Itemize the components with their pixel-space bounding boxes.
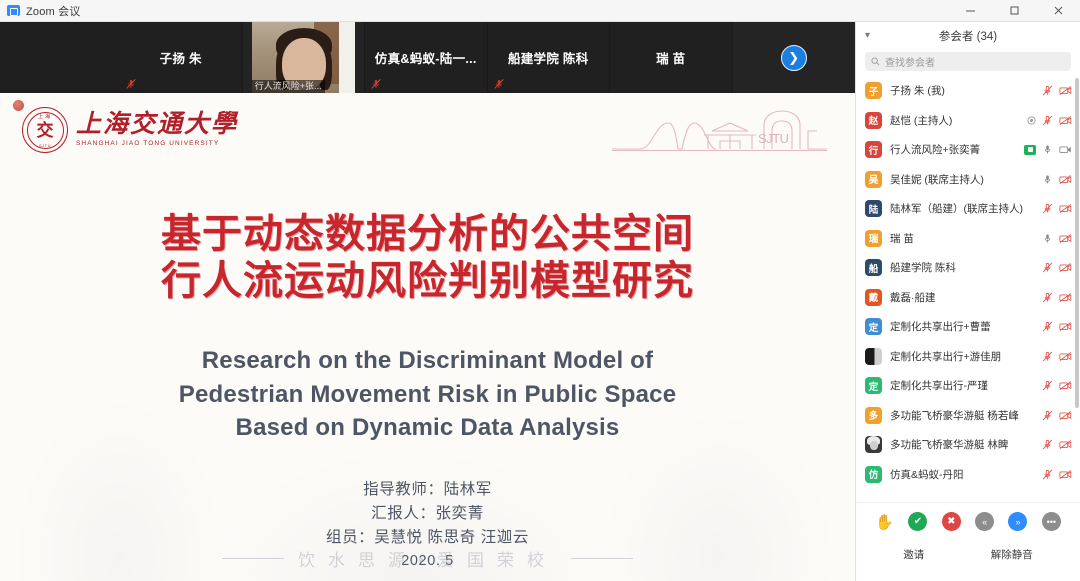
sjtu-name-en: SHANGHAI JIAO TONG UNIVERSITY bbox=[76, 141, 238, 148]
thumbnail-name: 子扬 朱 bbox=[160, 48, 202, 67]
participant-row[interactable]: 船 船建学院 陈科 bbox=[856, 253, 1080, 283]
participant-row[interactable]: 赵 赵恺 (主持人) bbox=[856, 106, 1080, 136]
go-faster-icon[interactable]: » bbox=[1008, 512, 1027, 531]
thumbnail-participant-3[interactable]: 仿真&蚂蚁-陆一... bbox=[365, 22, 488, 93]
minimize-button[interactable] bbox=[948, 0, 992, 22]
camera-muted-icon[interactable] bbox=[1059, 410, 1072, 421]
participants-title: 参会者 (34) bbox=[856, 28, 1080, 44]
sjtu-logo: 上海 交 SJTU 上海交通大學 SHANGHAI JIAO TONG UNIV… bbox=[22, 107, 238, 153]
motto-dash-right bbox=[571, 558, 633, 559]
avatar: 瑞 bbox=[865, 230, 882, 247]
thumbnail-name: 船建学院 陈科 bbox=[508, 48, 589, 67]
motto-dash-left bbox=[222, 558, 284, 559]
avatar: 定 bbox=[865, 377, 882, 394]
window-titlebar: Zoom 会议 bbox=[0, 0, 1080, 22]
camera-muted-icon[interactable] bbox=[1059, 174, 1072, 185]
avatar: 仿 bbox=[865, 466, 882, 483]
seal-center-char: 交 bbox=[37, 122, 54, 139]
mic-muted-icon bbox=[493, 78, 505, 90]
credit-advisor: 指导教师：陆林军 bbox=[0, 478, 855, 502]
sjtu-name-cn: 上海交通大學 bbox=[76, 112, 238, 137]
camera-muted-icon[interactable] bbox=[1059, 203, 1072, 214]
chevron-right-icon: ❯ bbox=[781, 45, 807, 71]
thumbnail-name: 瑞 苗 bbox=[656, 48, 685, 67]
mic-muted-icon[interactable] bbox=[1041, 439, 1054, 450]
participants-header: ▾ 参会者 (34) bbox=[856, 22, 1080, 49]
participant-row[interactable]: 定 定制化共享出行-严瑾 bbox=[856, 371, 1080, 401]
slide-title-cn-line1: 基于动态数据分析的公共空间 bbox=[0, 211, 855, 258]
participant-name: 定制化共享出行-严瑾 bbox=[890, 378, 1033, 393]
slide-title-en: Research on the Discriminant Model of Pe… bbox=[0, 344, 855, 445]
mic-muted-icon[interactable] bbox=[1041, 410, 1054, 421]
avatar: 定 bbox=[865, 318, 882, 335]
zoom-icon bbox=[7, 5, 20, 16]
participant-name: 瑞 苗 bbox=[890, 231, 1033, 246]
participant-status-icons bbox=[1041, 380, 1072, 391]
thumbnail-participant-2-video[interactable]: 行人流风险+张... bbox=[243, 22, 366, 93]
avatar: 陆 bbox=[865, 200, 882, 217]
thumbnail-name: 仿真&蚂蚁-陆一... bbox=[375, 48, 477, 67]
shared-slide: 上海 交 SJTU 上海交通大學 SHANGHAI JIAO TONG UNIV… bbox=[0, 93, 855, 581]
no-icon[interactable]: ✖ bbox=[942, 512, 961, 531]
thumbnail-participant-4[interactable]: 船建学院 陈科 bbox=[488, 22, 611, 93]
participant-row[interactable]: 陆 陆林军（船建）(联席主持人) bbox=[856, 194, 1080, 224]
participant-row[interactable]: 戴 戴磊·船建 bbox=[856, 283, 1080, 313]
yes-icon[interactable]: ✔ bbox=[908, 512, 927, 531]
go-slower-icon[interactable]: « bbox=[975, 512, 994, 531]
participant-status-icons bbox=[1041, 85, 1072, 96]
app-body: 子扬 朱 行人流风险+张... bbox=[0, 22, 1080, 581]
camera-muted-icon[interactable] bbox=[1059, 85, 1072, 96]
participant-name: 吴佳妮 (联席主持人) bbox=[890, 172, 1033, 187]
search-placeholder: 查找参会者 bbox=[885, 54, 935, 69]
participants-panel: ▾ 参会者 (34) 查找参会者 子 子扬 朱 (我) 赵 赵恺 (主持人) bbox=[855, 22, 1080, 581]
meeting-stage: 子扬 朱 行人流风险+张... bbox=[0, 22, 855, 581]
sjtu-seal-icon: 上海 交 SJTU bbox=[22, 107, 68, 153]
participant-status-icons bbox=[1024, 144, 1072, 155]
close-button[interactable] bbox=[1036, 0, 1080, 22]
avatar: 赵 bbox=[865, 112, 882, 129]
participant-name: 船建学院 陈科 bbox=[890, 260, 1033, 275]
filmstrip-next-button[interactable]: ❯ bbox=[733, 22, 855, 93]
participant-name: 定制化共享出行+游佳朋 bbox=[890, 349, 1033, 364]
mic-muted-icon[interactable] bbox=[1041, 85, 1054, 96]
camera-muted-icon[interactable] bbox=[1059, 292, 1072, 303]
mic-icon[interactable] bbox=[1041, 174, 1054, 185]
camera-muted-icon[interactable] bbox=[1059, 469, 1072, 480]
camera-muted-icon[interactable] bbox=[1059, 380, 1072, 391]
mic-icon[interactable] bbox=[1041, 144, 1054, 155]
participant-name: 定制化共享出行+曹蕾 bbox=[890, 319, 1033, 334]
seal-bottom-text: SJTU bbox=[23, 143, 67, 148]
chevron-down-icon[interactable]: ▾ bbox=[865, 30, 870, 41]
mic-muted-icon[interactable] bbox=[1041, 115, 1054, 126]
participant-name: 赵恺 (主持人) bbox=[890, 113, 1019, 128]
participant-status-icons bbox=[1041, 262, 1072, 273]
video-window-light bbox=[339, 22, 355, 93]
mic-muted-icon[interactable] bbox=[1041, 262, 1054, 273]
seal-top-text: 上海 bbox=[23, 113, 67, 120]
motto-text: 饮水思源•爱国荣校 bbox=[298, 546, 557, 571]
camera-muted-icon[interactable] bbox=[1059, 115, 1072, 126]
raise-hand-icon[interactable]: ✋ bbox=[875, 512, 894, 531]
participant-row[interactable]: 行 行人流风险+张奕菁 bbox=[856, 135, 1080, 165]
participant-row[interactable]: 定制化共享出行+游佳朋 bbox=[856, 342, 1080, 372]
slide-title-cn: 基于动态数据分析的公共空间 行人流运动风险判别模型研究 bbox=[0, 211, 855, 305]
camera-muted-icon[interactable] bbox=[1059, 439, 1072, 450]
video-tile-label: 行人流风险+张... bbox=[252, 80, 325, 93]
mic-muted-icon[interactable] bbox=[1041, 469, 1054, 480]
participant-status-icons bbox=[1041, 439, 1072, 450]
slide-title-en-line2: Pedestrian Movement Risk in Public Space bbox=[0, 378, 855, 412]
video-filmstrip[interactable]: 子扬 朱 行人流风险+张... bbox=[0, 22, 855, 93]
participant-name: 陆林军（船建）(联席主持人) bbox=[890, 201, 1033, 216]
participant-status-icons bbox=[1041, 351, 1072, 362]
participants-footer: ✋ ✔ ✖ « » ••• 邀请 解除静音 bbox=[856, 502, 1080, 581]
search-participants-input[interactable]: 查找参会者 bbox=[865, 52, 1071, 71]
footer-buttons: 邀请 解除静音 bbox=[856, 531, 1080, 562]
mic-muted-icon[interactable] bbox=[1041, 292, 1054, 303]
slide-title-cn-line2: 行人流运动风险判别模型研究 bbox=[0, 258, 855, 305]
participant-status-icons bbox=[1041, 469, 1072, 480]
avatar bbox=[865, 348, 882, 365]
participant-row[interactable]: 多功能飞桥豪华游艇 林睥 bbox=[856, 430, 1080, 460]
participant-status-icons bbox=[1041, 292, 1072, 303]
avatar: 船 bbox=[865, 259, 882, 276]
participant-status-icons bbox=[1027, 115, 1072, 126]
thumbnail-participant-1[interactable]: 子扬 朱 bbox=[120, 22, 243, 93]
sjtu-logo-text: 上海交通大學 SHANGHAI JIAO TONG UNIVERSITY bbox=[76, 112, 238, 148]
participant-name: 戴磊·船建 bbox=[890, 290, 1033, 305]
participant-name: 仿真&蚂蚁-丹阳 bbox=[890, 467, 1033, 482]
mic-muted-icon bbox=[370, 78, 382, 90]
video-tile[interactable]: 行人流风险+张... bbox=[252, 22, 355, 93]
avatar: 行 bbox=[865, 141, 882, 158]
participant-status-icons bbox=[1041, 233, 1072, 244]
participant-name: 多功能飞桥豪华游艇 林睥 bbox=[890, 437, 1033, 452]
mic-muted-icon bbox=[125, 78, 137, 90]
participant-status-icons bbox=[1041, 410, 1072, 421]
participant-row[interactable]: 瑞 瑞 苗 bbox=[856, 224, 1080, 254]
avatar bbox=[865, 436, 882, 453]
reaction-buttons: ✋ ✔ ✖ « » ••• bbox=[856, 503, 1080, 531]
more-reactions-icon[interactable]: ••• bbox=[1042, 512, 1061, 531]
mic-muted-icon[interactable] bbox=[1041, 203, 1054, 214]
participant-status-icons bbox=[1041, 321, 1072, 332]
participant-status-icons bbox=[1041, 174, 1072, 185]
mic-muted-icon[interactable] bbox=[1041, 321, 1054, 332]
mic-muted-icon[interactable] bbox=[1041, 351, 1054, 362]
slide-title-en-line1: Research on the Discriminant Model of bbox=[0, 344, 855, 378]
participant-row[interactable]: 定 定制化共享出行+曹蕾 bbox=[856, 312, 1080, 342]
camera-muted-icon[interactable] bbox=[1059, 351, 1072, 362]
participants-list[interactable]: 子 子扬 朱 (我) 赵 赵恺 (主持人) 行 行人流风险+张奕菁 bbox=[856, 76, 1080, 502]
participant-status-icons bbox=[1041, 203, 1072, 214]
camera-icon[interactable] bbox=[1059, 144, 1072, 155]
slide-title-en-line3: Based on Dynamic Data Analysis bbox=[0, 411, 855, 445]
skyline-sjtu-text: SJTU bbox=[758, 131, 789, 146]
mic-muted-icon[interactable] bbox=[1041, 380, 1054, 391]
participant-row[interactable]: 多 多功能飞桥豪华游艇 杨若峰 bbox=[856, 401, 1080, 431]
participant-name: 行人流风险+张奕菁 bbox=[890, 142, 1016, 157]
avatar: 吴 bbox=[865, 171, 882, 188]
participant-row[interactable]: 吴 吴佳妮 (联席主持人) bbox=[856, 165, 1080, 195]
avatar: 多 bbox=[865, 407, 882, 424]
participant-name: 多功能飞桥豪华游艇 杨若峰 bbox=[890, 408, 1033, 423]
participant-name: 子扬 朱 (我) bbox=[890, 83, 1033, 98]
invite-button[interactable]: 邀请 bbox=[903, 547, 924, 562]
unmute-button[interactable]: 解除静音 bbox=[991, 547, 1033, 562]
camera-muted-icon[interactable] bbox=[1059, 262, 1072, 273]
mic-icon[interactable] bbox=[1041, 233, 1054, 244]
avatar: 子 bbox=[865, 82, 882, 99]
participant-row[interactable]: 子 子扬 朱 (我) bbox=[856, 76, 1080, 106]
campus-skyline-icon: SJTU bbox=[612, 105, 827, 157]
recording-icon bbox=[1027, 116, 1036, 125]
window-title: Zoom 会议 bbox=[26, 3, 81, 19]
search-icon bbox=[871, 57, 880, 66]
camera-muted-icon[interactable] bbox=[1059, 233, 1072, 244]
screen-share-icon bbox=[1024, 145, 1036, 155]
camera-muted-icon[interactable] bbox=[1059, 321, 1072, 332]
avatar: 戴 bbox=[865, 289, 882, 306]
slide-motto-footer: 饮水思源•爱国荣校 bbox=[0, 546, 855, 571]
participants-scrollbar[interactable] bbox=[1075, 78, 1079, 408]
maximize-button[interactable] bbox=[992, 0, 1036, 22]
participant-row[interactable]: 仿 仿真&蚂蚁-丹阳 bbox=[856, 460, 1080, 490]
thumbnail-participant-5[interactable]: 瑞 苗 bbox=[610, 22, 733, 93]
credit-presenter: 汇报人：张奕菁 bbox=[0, 502, 855, 526]
